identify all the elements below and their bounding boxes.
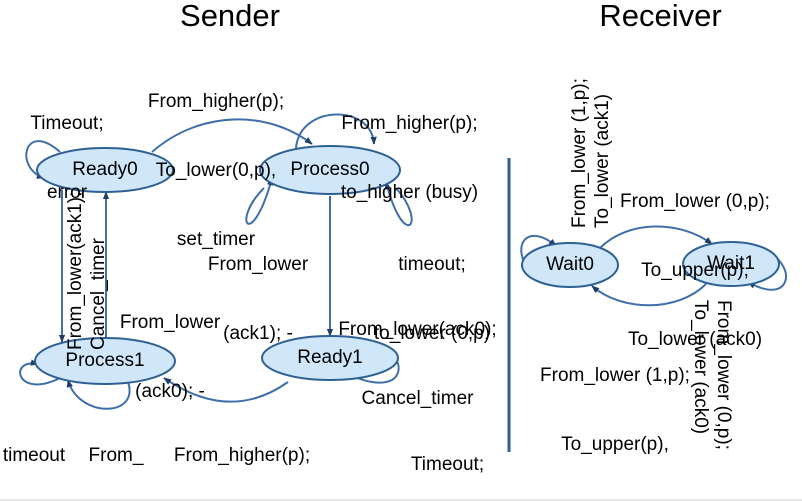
edge-label-process1-self-left: timeout ; …: [0, 398, 68, 501]
edge-label-line: From_: [66, 444, 166, 467]
page-title-sender: Sender: [160, 0, 300, 34]
edge-label-line: From_lower (0,p);: [600, 190, 790, 213]
edge-label-line: From_higher(p);: [322, 112, 497, 135]
edge-label-line: To_lower (ack0): [689, 300, 712, 500]
edge-label-line: From_lower: [100, 311, 240, 334]
edge-label-line: Timeout;: [2, 112, 132, 135]
edge-label-line: From_higher(p);: [126, 90, 306, 113]
edge-label-line: Timeout;: [390, 453, 505, 476]
edge-label-line: to_higher (busy): [322, 181, 497, 204]
edge-label-ready1-self: Timeout; error: [390, 407, 505, 501]
edge-label-line: From_lower(ack0);: [330, 318, 505, 341]
edge-label-line: From_higher(p);: [152, 444, 332, 467]
edge-label-line: To_upper(p),: [600, 259, 790, 282]
edge-label-process1-self-bottom: From_ higher(p); to_higher (busy): [66, 398, 166, 501]
state-diagram-canvas: Sender Receiver Ready0 Process0 Process1…: [0, 0, 802, 501]
edge-label-line: timeout: [0, 444, 68, 467]
edge-label-wait1-self-line2: To_lower (ack0): [643, 300, 758, 500]
edge-label-ready1-to-process1: From_higher(p); To_lower(1,p), set_timer: [152, 398, 332, 501]
